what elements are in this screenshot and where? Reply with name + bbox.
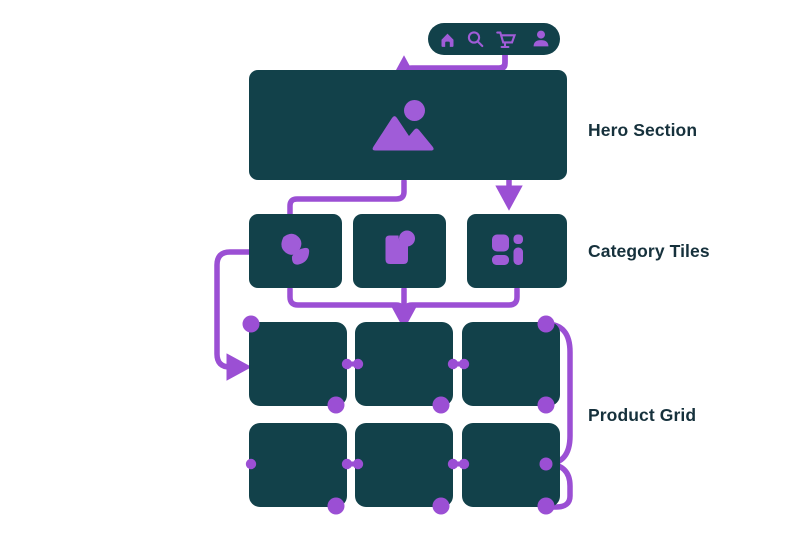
category-tiles-group [249,214,567,288]
handle-dot[interactable] [328,498,345,515]
handle-dot[interactable] [538,498,555,515]
handle-dot-small[interactable] [448,359,458,369]
product-grid-label: Product Grid [588,405,696,426]
connector-tile3-down [404,289,517,313]
handle-dot[interactable] [243,316,260,333]
product-cell-5[interactable] [355,423,453,507]
handle-dot-small[interactable] [448,459,458,469]
handle-dot[interactable] [328,397,345,414]
connector-tile1-left-loop [217,252,249,367]
hero-section-panel[interactable] [249,70,567,180]
handle-dot[interactable] [538,316,555,333]
product-cell-1[interactable] [249,322,347,406]
connector-hero-to-tile1 [290,181,404,216]
handle-dot-small[interactable] [459,359,469,369]
connector-tile1-down [290,289,404,313]
grid-layout-icon [492,235,523,266]
diagram-canvas: Hero Section Category Tiles Product Grid [0,0,800,536]
product-cell-2[interactable] [355,322,453,406]
product-cell-3[interactable] [462,322,560,406]
handle-dot[interactable] [433,498,450,515]
handle-dot[interactable] [433,397,450,414]
handle-dot-small[interactable] [540,458,553,471]
top-navigation-bar[interactable] [428,23,560,55]
wireframe-diagram [0,0,800,536]
handle-dot-small[interactable] [342,359,352,369]
handle-dot-small[interactable] [246,459,256,469]
handle-dot[interactable] [538,397,555,414]
category-tiles-label: Category Tiles [588,241,710,262]
handle-dot-small[interactable] [342,459,352,469]
handle-dot-small[interactable] [353,459,363,469]
handle-dot-small[interactable] [353,359,363,369]
handle-dot-small[interactable] [459,459,469,469]
hero-section-label: Hero Section [588,120,697,141]
category-tile-2[interactable] [353,214,446,288]
category-tile-1[interactable] [249,214,342,288]
product-cell-4[interactable] [249,423,347,507]
product-grid-group [249,322,560,507]
category-tile-3[interactable] [467,214,567,288]
